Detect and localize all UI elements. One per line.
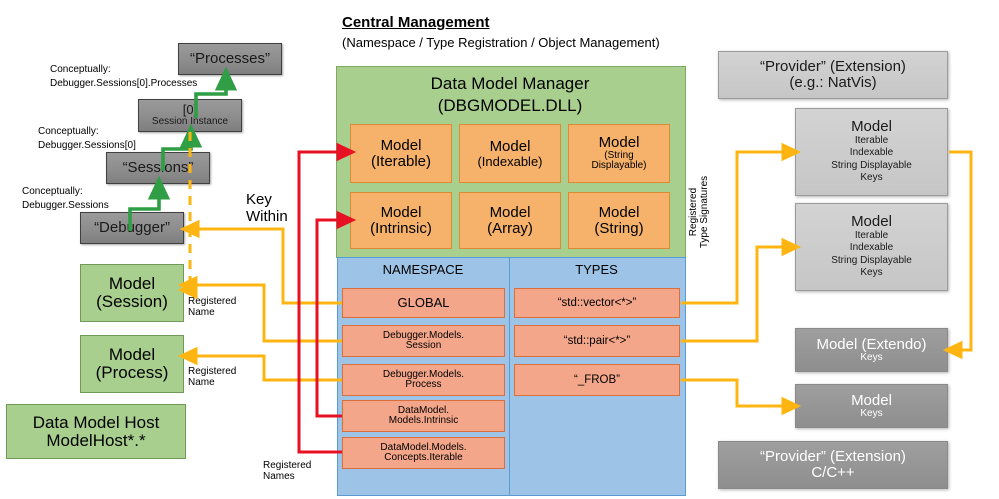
table-header-types: TYPES (509, 263, 684, 278)
model-box-data-model-host[interactable]: Data Model Host ModelHost*.* (6, 404, 186, 459)
center-model-string-displayable-line2: (String Displayable) (591, 151, 646, 172)
right-model-1[interactable]: Model Iterable Indexable String Displaya… (795, 108, 948, 196)
object-box-debugger-label: “Debugger” (94, 220, 170, 236)
session-instance-label: Session Instance (152, 117, 228, 128)
page-title: Central Management (342, 14, 490, 31)
namespace-row-global-label: GLOBAL (397, 296, 449, 310)
namespace-row-iterable-label: DataModel.Models. Concepts.Iterable (380, 443, 466, 464)
page-subtitle: (Namespace / Type Registration / Object … (342, 36, 660, 51)
namespace-row-session[interactable]: Debugger.Models. Session (342, 325, 505, 357)
edge-label-registered-type-signatures: Registered Type Signatures (688, 167, 710, 257)
model-box-process[interactable]: Model (Process) (80, 335, 184, 393)
types-row-vector-label: “std::vector<*>” (558, 297, 637, 309)
manager-title-line1: Data Model Manager (336, 74, 684, 93)
edge-label-key-within: Key Within (246, 192, 288, 226)
model-process-line2: (Process) (96, 364, 169, 382)
edge-label-registered-name-2: Registered Name (188, 366, 236, 388)
namespace-row-process[interactable]: Debugger.Models. Process (342, 364, 505, 396)
manager-title-line2: (DBGMODEL.DLL) (336, 96, 684, 115)
right-model-extendo-title: Model (Extendo) (816, 337, 926, 353)
provider-cpp-line2: C/C++ (811, 465, 854, 481)
center-model-string-line1: Model (599, 205, 640, 221)
right-model-2[interactable]: Model Iterable Indexable String Displaya… (795, 203, 948, 291)
right-model-1-title: Model (851, 119, 892, 135)
namespace-row-global[interactable]: GLOBAL (342, 288, 505, 318)
host-line2: ModelHost*.* (46, 432, 145, 450)
types-row-pair[interactable]: “std::pair<*>” (514, 325, 680, 357)
provider-natvis-box[interactable]: “Provider” (Extension) (e.g.: NatVis) (718, 51, 948, 99)
right-model-2-title: Model (851, 214, 892, 230)
center-model-intrinsic-line2: (Intrinsic) (370, 221, 432, 237)
center-model-indexable-line1: Model (490, 139, 531, 155)
model-session-line2: (Session) (96, 293, 168, 311)
right-model-keys-caps: Keys (860, 409, 882, 420)
edge-label-registered-names: Registered Names (263, 460, 311, 482)
model-process-line1: Model (109, 346, 155, 364)
namespace-row-iterable[interactable]: DataModel.Models. Concepts.Iterable (342, 437, 505, 469)
types-row-frob[interactable]: “_FROB” (514, 364, 680, 396)
right-model-extendo-caps: Keys (860, 353, 882, 364)
center-model-iterable[interactable]: Model (Iterable) (350, 124, 452, 183)
provider-natvis-line2: (e.g.: NatVis) (789, 75, 876, 91)
object-box-sessions[interactable]: “Sessions” (106, 152, 210, 184)
types-row-frob-label: “_FROB” (574, 374, 620, 386)
table-header-namespace: NAMESPACE (337, 263, 509, 278)
note-sessions-line2: Debugger.Sessions (22, 200, 109, 211)
note-processes-line1: Conceptually: (50, 64, 111, 75)
note-processes-line2: Debugger.Sessions[0].Processes (50, 78, 197, 89)
center-model-array[interactable]: Model (Array) (459, 192, 561, 249)
center-model-iterable-line2: (Iterable) (371, 154, 431, 170)
diagram-canvas: Central Management (Namespace / Type Reg… (0, 0, 999, 499)
center-model-string-displayable[interactable]: Model (String Displayable) (568, 124, 670, 183)
center-model-indexable[interactable]: Model (Indexable) (459, 124, 561, 183)
note-sessions-line1: Conceptually: (22, 186, 83, 197)
center-model-indexable-line2: (Indexable) (477, 155, 542, 169)
right-model-keys[interactable]: Model Keys (795, 384, 948, 428)
namespace-row-intrinsic[interactable]: DataModel. Models.Intrinsic (342, 400, 505, 432)
namespace-row-intrinsic-label: DataModel. Models.Intrinsic (389, 406, 458, 427)
object-box-sessions-label: “Sessions” (123, 160, 194, 176)
note-session-line2: Debugger.Sessions[0] (38, 140, 136, 151)
provider-cpp-line1: “Provider” (Extension) (760, 449, 906, 465)
model-box-session[interactable]: Model (Session) (80, 264, 184, 322)
object-box-debugger[interactable]: “Debugger” (80, 212, 184, 244)
session-instance-index: [0] (183, 103, 197, 117)
provider-natvis-line1: “Provider” (Extension) (760, 59, 906, 75)
object-box-session-instance[interactable]: [0] Session Instance (138, 99, 242, 132)
host-line1: Data Model Host (33, 414, 160, 432)
note-session-line1: Conceptually: (38, 126, 99, 137)
center-model-intrinsic-line1: Model (381, 205, 422, 221)
provider-cpp-box[interactable]: “Provider” (Extension) C/C++ (718, 441, 948, 489)
center-model-string-displayable-line1: Model (599, 135, 640, 151)
center-model-string-line2: (String) (594, 221, 643, 237)
types-row-vector[interactable]: “std::vector<*>” (514, 288, 680, 318)
model-session-line1: Model (109, 275, 155, 293)
namespace-row-session-label: Debugger.Models. Session (383, 331, 464, 352)
namespace-row-process-label: Debugger.Models. Process (383, 370, 464, 391)
edge-label-registered-name-1: Registered Name (188, 296, 236, 318)
right-model-1-caps: Iterable Indexable String Displayable Ke… (831, 135, 912, 185)
types-row-pair-label: “std::pair<*>” (564, 335, 630, 347)
right-model-keys-title: Model (851, 393, 892, 409)
object-box-processes[interactable]: “Processes” (178, 43, 282, 75)
center-model-string[interactable]: Model (String) (568, 192, 670, 249)
center-model-array-line1: Model (490, 205, 531, 221)
center-model-intrinsic[interactable]: Model (Intrinsic) (350, 192, 452, 249)
right-model-2-caps: Iterable Indexable String Displayable Ke… (831, 230, 912, 280)
center-model-array-line2: (Array) (487, 221, 533, 237)
object-box-processes-label: “Processes” (190, 51, 270, 67)
center-model-iterable-line1: Model (381, 138, 422, 154)
right-model-extendo[interactable]: Model (Extendo) Keys (795, 328, 948, 372)
